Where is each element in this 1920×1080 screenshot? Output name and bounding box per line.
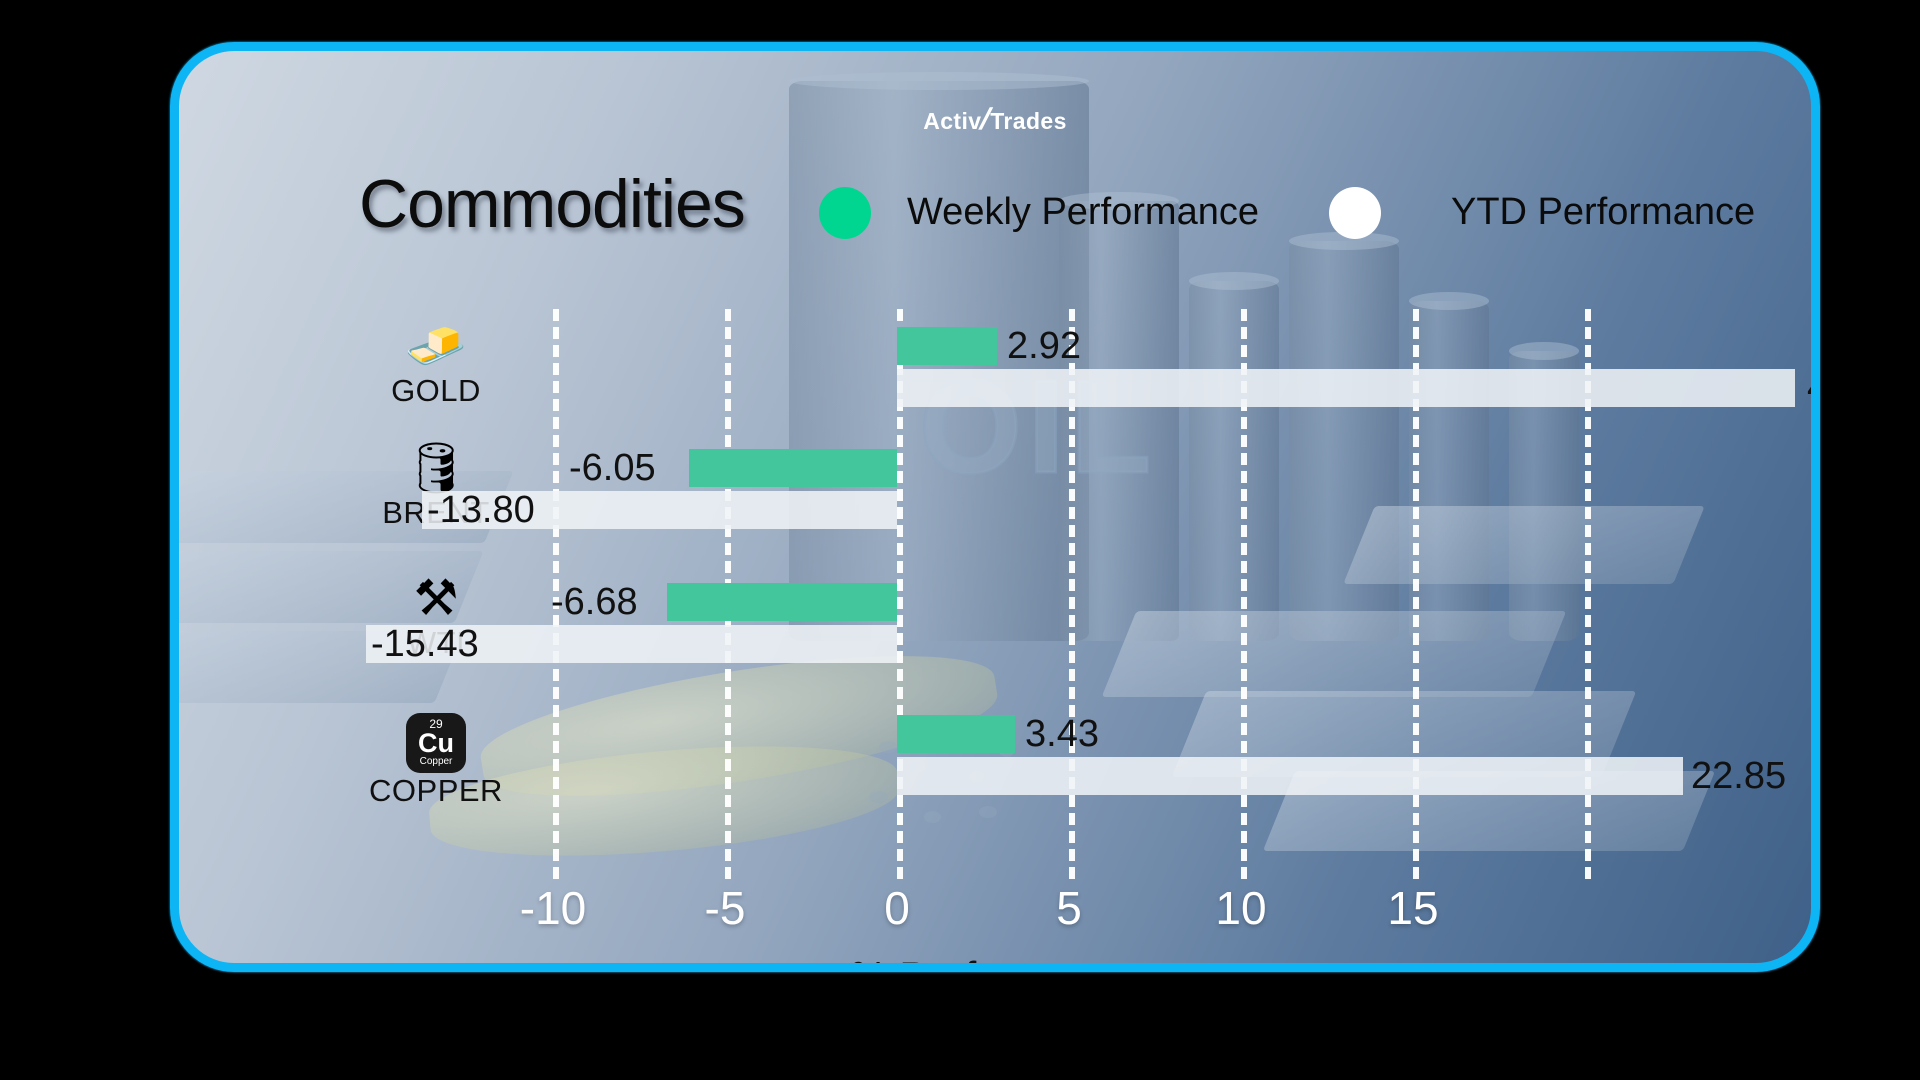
copper-symbol: Cu: [418, 730, 454, 757]
header-row: Commodities Weekly Performance YTD Perfo…: [179, 173, 1811, 243]
bar-ytd-gold: [897, 369, 1795, 407]
legend-label-weekly: Weekly Performance: [907, 191, 1259, 234]
oil-barrels-icon: 🛢: [361, 441, 511, 495]
x-tick-5: 5: [1056, 881, 1082, 935]
value-weekly-wti: -6.68: [551, 583, 638, 621]
logo-text-activ: Activ: [923, 108, 981, 134]
row-icon-copper: 29 Cu Copper COPPER: [361, 701, 511, 809]
row-label-copper: COPPER: [361, 773, 511, 809]
activtrades-logo: Activ/Trades: [179, 103, 1811, 137]
value-weekly-brent: -6.05: [569, 449, 656, 487]
x-tick-10: 10: [1215, 881, 1266, 935]
x-axis: -10 -5 0 5 10 15: [179, 881, 1811, 951]
value-ytd-wti: -15.43: [371, 625, 479, 663]
page-title: Commodities: [359, 165, 745, 243]
bar-weekly-gold: [897, 327, 997, 365]
row-label-gold: GOLD: [361, 373, 511, 409]
x-tick-0: 0: [884, 881, 910, 935]
value-ytd-gold: 47.02: [1807, 369, 1820, 407]
chart-card: OIL Activ/Trades: [170, 42, 1820, 972]
plot-area: 🧈 GOLD 2.92 47.02 🛢 BRENT -6.05 -13.80 ⚒…: [179, 309, 1811, 879]
bar-weekly-wti: [667, 583, 897, 621]
value-ytd-brent: -13.80: [427, 491, 535, 529]
legend-dot-ytd: [1329, 187, 1381, 239]
x-tick--10: -10: [520, 881, 586, 935]
value-weekly-copper: 3.43: [1025, 715, 1099, 753]
bar-weekly-brent: [689, 449, 897, 487]
copper-element-name: Copper: [420, 757, 453, 767]
logo-text-trades: Trades: [990, 108, 1067, 134]
oil-pump-icon: ⚒: [361, 571, 511, 625]
x-axis-label: % Performance: [179, 953, 1811, 972]
x-tick--5: -5: [705, 881, 746, 935]
copper-element-icon: 29 Cu Copper: [361, 701, 511, 773]
gold-bars-icon: 🧈: [361, 319, 511, 373]
value-ytd-copper: 22.85: [1691, 757, 1786, 795]
legend-label-ytd: YTD Performance: [1451, 191, 1755, 234]
bar-weekly-copper: [897, 715, 1015, 753]
bar-ytd-copper: [897, 757, 1683, 795]
x-tick-15: 15: [1387, 881, 1438, 935]
value-weekly-gold: 2.92: [1007, 327, 1081, 365]
legend-dot-weekly: [819, 187, 871, 239]
screenshot-root: OIL Activ/Trades: [0, 0, 1920, 1080]
row-icon-gold: 🧈 GOLD: [361, 319, 511, 409]
